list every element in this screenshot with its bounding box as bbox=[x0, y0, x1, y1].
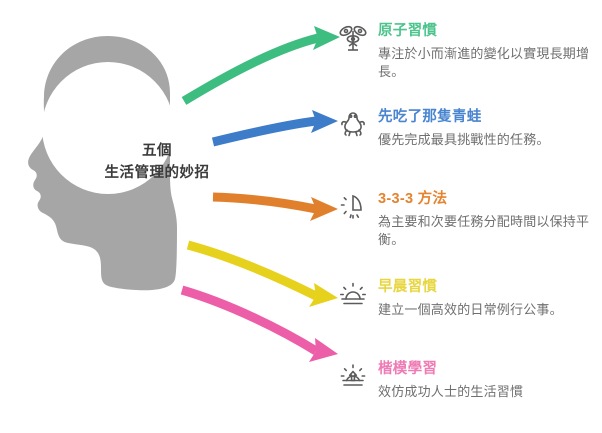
sunrise-icon bbox=[336, 278, 374, 316]
item-description: 效仿成功人士的生活習慣 bbox=[378, 383, 602, 402]
frog-icon bbox=[336, 108, 374, 146]
atom-icon bbox=[336, 22, 374, 60]
items-list: 原子習慣 專注於小而漸進的變化以實現長期增長。 bbox=[334, 0, 602, 433]
item-text: 3-3-3 方法 為主要和次要任務分配時間以保持平衡。 bbox=[378, 190, 602, 250]
item-description: 優先完成最具挑戰性的任務。 bbox=[378, 131, 602, 150]
infographic-root: 五個 生活管理的妙招 bbox=[0, 0, 602, 433]
item-title: 3-3-3 方法 bbox=[378, 190, 602, 210]
arrow-green bbox=[184, 26, 340, 101]
item-text: 早晨習慣 建立一個高效的日常例行公事。 bbox=[378, 278, 602, 319]
item-description: 為主要和次要任務分配時間以保持平衡。 bbox=[378, 213, 602, 251]
quarter-sun-icon bbox=[336, 190, 374, 228]
item-title: 原子習慣 bbox=[378, 22, 602, 42]
lightbulb-arrow-icon bbox=[336, 360, 374, 398]
item-description: 專注於小而漸進的變化以實現長期增長。 bbox=[378, 45, 602, 83]
item-title: 先吃了那隻青蛙 bbox=[378, 108, 602, 128]
item-title: 楷模學習 bbox=[378, 360, 602, 380]
item-text: 楷模學習 效仿成功人士的生活習慣 bbox=[378, 360, 602, 401]
arrow-blue bbox=[213, 110, 338, 142]
item-text: 原子習慣 專注於小而漸進的變化以實現長期增長。 bbox=[378, 22, 602, 82]
arrow-orange bbox=[213, 197, 338, 221]
item-text: 先吃了那隻青蛙 優先完成最具挑戰性的任務。 bbox=[378, 108, 602, 149]
item-description: 建立一個高效的日常例行公事。 bbox=[378, 301, 602, 320]
item-title: 早晨習慣 bbox=[378, 278, 602, 298]
